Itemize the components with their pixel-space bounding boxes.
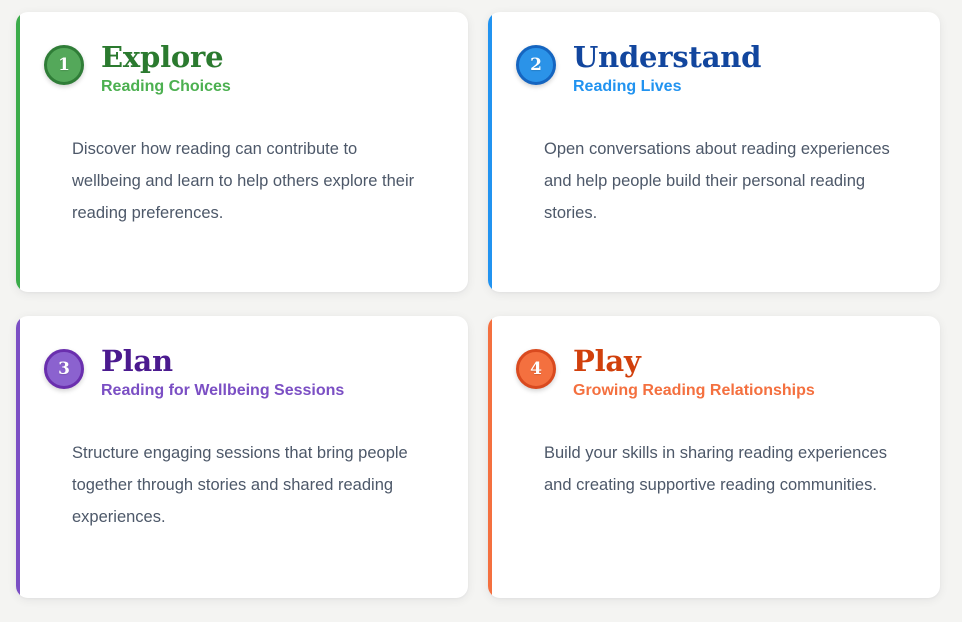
card-subtitle-3: Reading for Wellbeing Sessions [101,382,344,400]
accent-bar-2 [488,12,492,292]
card-body-2: Open conversations about reading experie… [544,133,899,230]
card-header-1: 1 Explore Reading Choices [44,42,434,97]
card-body-3: Structure engaging sessions that bring p… [72,437,427,534]
card-heading-group-4: Play Growing Reading Relationships [573,346,815,401]
card-body-4: Build your skills in sharing reading exp… [544,437,899,501]
card-title-2: Understand [573,42,761,72]
accent-bar-1 [16,12,20,292]
step-number-badge-4: 4 [516,349,556,389]
step-cards-grid: 1 Explore Reading Choices Discover how r… [0,0,962,622]
card-header-3: 3 Plan Reading for Wellbeing Sessions [44,346,434,401]
card-heading-group-2: Understand Reading Lives [573,42,761,97]
card-subtitle-1: Reading Choices [101,78,231,96]
card-title-3: Plan [101,346,344,376]
step-number-badge-3: 3 [44,349,84,389]
card-subtitle-4: Growing Reading Relationships [573,382,815,400]
step-card-1[interactable]: 1 Explore Reading Choices Discover how r… [16,12,468,292]
accent-bar-4 [488,316,492,598]
card-header-2: 2 Understand Reading Lives [516,42,906,97]
step-number-badge-2: 2 [516,45,556,85]
accent-bar-3 [16,316,20,598]
step-card-4[interactable]: 4 Play Growing Reading Relationships Bui… [488,316,940,598]
card-header-4: 4 Play Growing Reading Relationships [516,346,906,401]
card-heading-group-3: Plan Reading for Wellbeing Sessions [101,346,344,401]
step-card-3[interactable]: 3 Plan Reading for Wellbeing Sessions St… [16,316,468,598]
card-body-1: Discover how reading can contribute to w… [72,133,427,230]
card-heading-group-1: Explore Reading Choices [101,42,231,97]
card-title-4: Play [573,346,815,376]
step-number-badge-1: 1 [44,45,84,85]
card-title-1: Explore [101,42,231,72]
card-subtitle-2: Reading Lives [573,78,761,96]
step-card-2[interactable]: 2 Understand Reading Lives Open conversa… [488,12,940,292]
